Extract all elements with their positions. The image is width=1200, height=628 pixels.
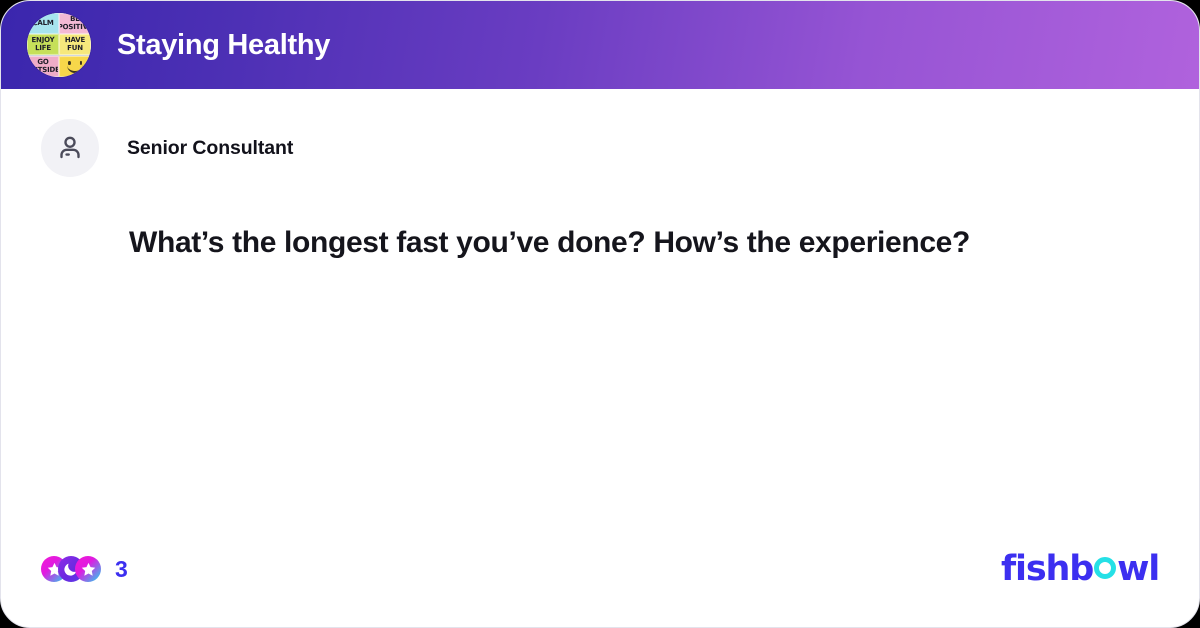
avatar	[41, 119, 99, 177]
bowl-title: Staying Healthy	[117, 29, 330, 62]
fishbowl-logo: fishb wl	[1001, 549, 1159, 589]
card-footer: 3 fishb wl	[41, 549, 1159, 589]
smiley-face-icon	[62, 55, 88, 77]
reactions-group[interactable]: 3	[41, 556, 128, 583]
reaction-badge-stack[interactable]	[41, 556, 101, 582]
fishbowl-logo-part2: wl	[1117, 549, 1159, 589]
sticky-note: ENJOY LIFE	[27, 34, 59, 56]
card-header: CALM BE POSITIVE ENJOY LIFE HAVE FUN GO …	[1, 1, 1199, 89]
post-card: CALM BE POSITIVE ENJOY LIFE HAVE FUN GO …	[0, 0, 1200, 628]
person-icon	[55, 133, 85, 163]
sticky-note: HAVE FUN	[59, 34, 91, 56]
fishbowl-logo-part1: fishb	[1001, 549, 1093, 589]
sticky-note-smiley	[59, 55, 91, 77]
bowl-avatar[interactable]: CALM BE POSITIVE ENJOY LIFE HAVE FUN GO …	[27, 13, 91, 77]
sticky-note: GO OUTSIDE	[27, 55, 59, 77]
card-body: Senior Consultant What’s the longest fas…	[1, 89, 1199, 627]
reaction-count: 3	[115, 556, 128, 583]
post-question: What’s the longest fast you’ve done? How…	[129, 224, 1129, 262]
sticky-note: BE POSITIVE	[59, 13, 91, 34]
fishbowl-logo-o-ring	[1094, 557, 1116, 579]
star-reaction-icon[interactable]	[75, 556, 101, 582]
bowl-avatar-image: CALM BE POSITIVE ENJOY LIFE HAVE FUN GO …	[27, 13, 91, 77]
sticky-note: CALM	[27, 13, 59, 34]
author-name: Senior Consultant	[127, 137, 293, 160]
star-glyph	[80, 561, 97, 578]
author-row: Senior Consultant	[41, 119, 1159, 177]
